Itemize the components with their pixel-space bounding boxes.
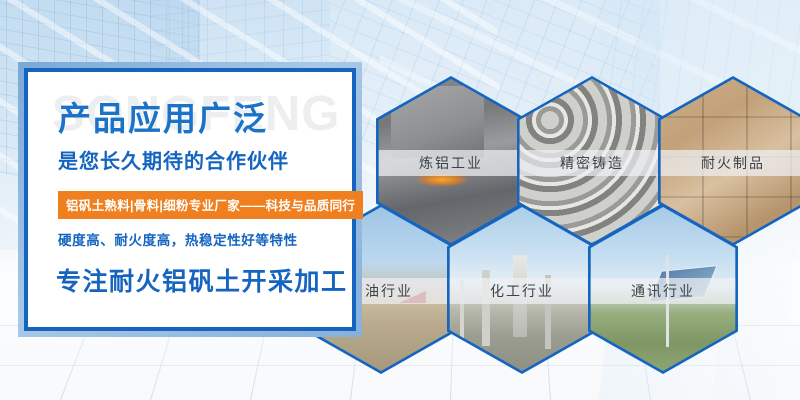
headline-main: 产品应用广泛	[58, 99, 268, 139]
promotional-banner: 炼铝工业 精密铸造 耐火制品 石油行业 化工行业 通讯行业	[0, 0, 800, 400]
headline-bottom: 专注耐火铝矾土开采加工	[56, 262, 348, 298]
antenna-pole-icon	[666, 255, 669, 347]
headline-sub: 是您长久期待的合作伙伴	[58, 145, 289, 174]
tagline-badge: 铝矾土熟料|骨料|细粉专业厂家——科技与品质同行	[58, 191, 363, 219]
feature-line: 硬度高、耐火度高，热稳定性好等特性	[58, 229, 298, 249]
